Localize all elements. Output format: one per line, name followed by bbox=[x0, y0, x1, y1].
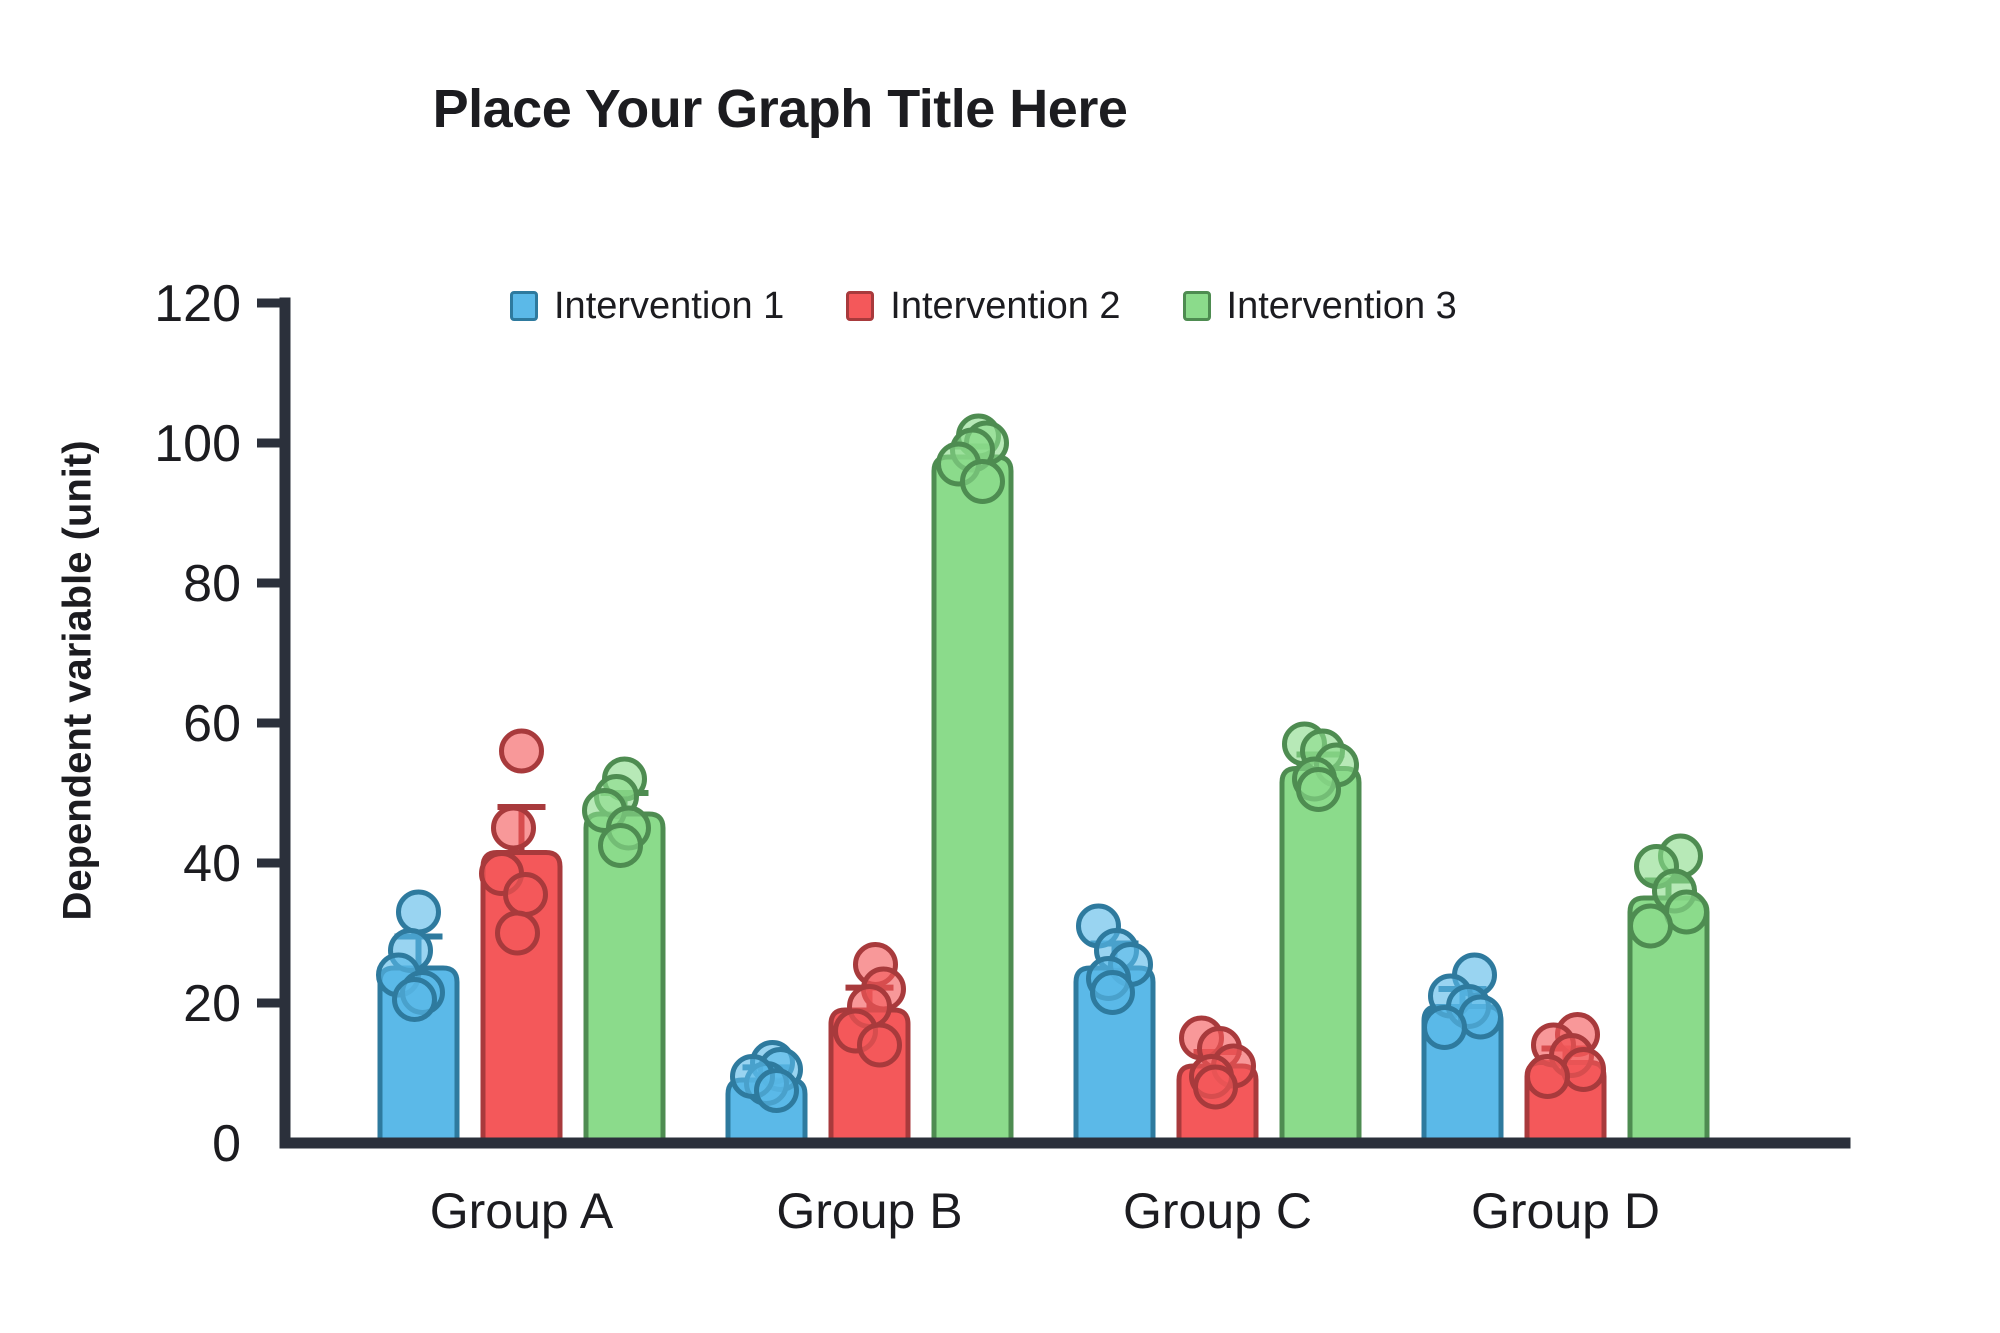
scatter-point bbox=[1093, 973, 1133, 1013]
scatter-point bbox=[860, 1025, 900, 1065]
scatter-point bbox=[757, 1071, 797, 1111]
chart-canvas: Place Your Graph Title Here Dependent va… bbox=[0, 0, 2000, 1333]
bars-layer bbox=[380, 457, 1707, 1143]
x-category-labels-layer: Group AGroup BGroup CGroup D bbox=[430, 1183, 1660, 1239]
x-category-label: Group D bbox=[1471, 1183, 1660, 1239]
scatter-point bbox=[494, 808, 534, 848]
chart-plot-area: 020406080100120 Group AGroup BGroup CGro… bbox=[0, 0, 2000, 1333]
scatter-point bbox=[506, 875, 546, 915]
y-tick-label: 80 bbox=[183, 555, 241, 613]
scatter-point bbox=[399, 892, 439, 932]
scatter-point bbox=[1196, 1067, 1236, 1107]
scatter-point bbox=[1564, 1050, 1604, 1090]
x-category-label: Group C bbox=[1123, 1183, 1312, 1239]
y-tick-label: 100 bbox=[154, 415, 241, 473]
scatter-point bbox=[1528, 1057, 1568, 1097]
scatter-points-layer bbox=[379, 416, 1707, 1111]
y-tick-label: 120 bbox=[154, 275, 241, 333]
bar bbox=[1282, 769, 1359, 1144]
x-category-label: Group B bbox=[776, 1183, 962, 1239]
y-tick-label: 20 bbox=[183, 975, 241, 1033]
scatter-point bbox=[1299, 770, 1339, 810]
bar bbox=[934, 457, 1011, 1143]
scatter-point bbox=[498, 913, 538, 953]
y-tick-label: 0 bbox=[212, 1115, 241, 1173]
x-category-label: Group A bbox=[430, 1183, 614, 1239]
scatter-point bbox=[1425, 1008, 1465, 1048]
scatter-point bbox=[601, 826, 641, 866]
scatter-point bbox=[963, 462, 1003, 502]
scatter-point bbox=[395, 980, 435, 1020]
y-tick-labels-layer: 020406080100120 bbox=[154, 275, 241, 1173]
scatter-point bbox=[1631, 906, 1671, 946]
scatter-point bbox=[502, 731, 542, 771]
y-tick-label: 40 bbox=[183, 835, 241, 893]
y-tick-label: 60 bbox=[183, 695, 241, 753]
